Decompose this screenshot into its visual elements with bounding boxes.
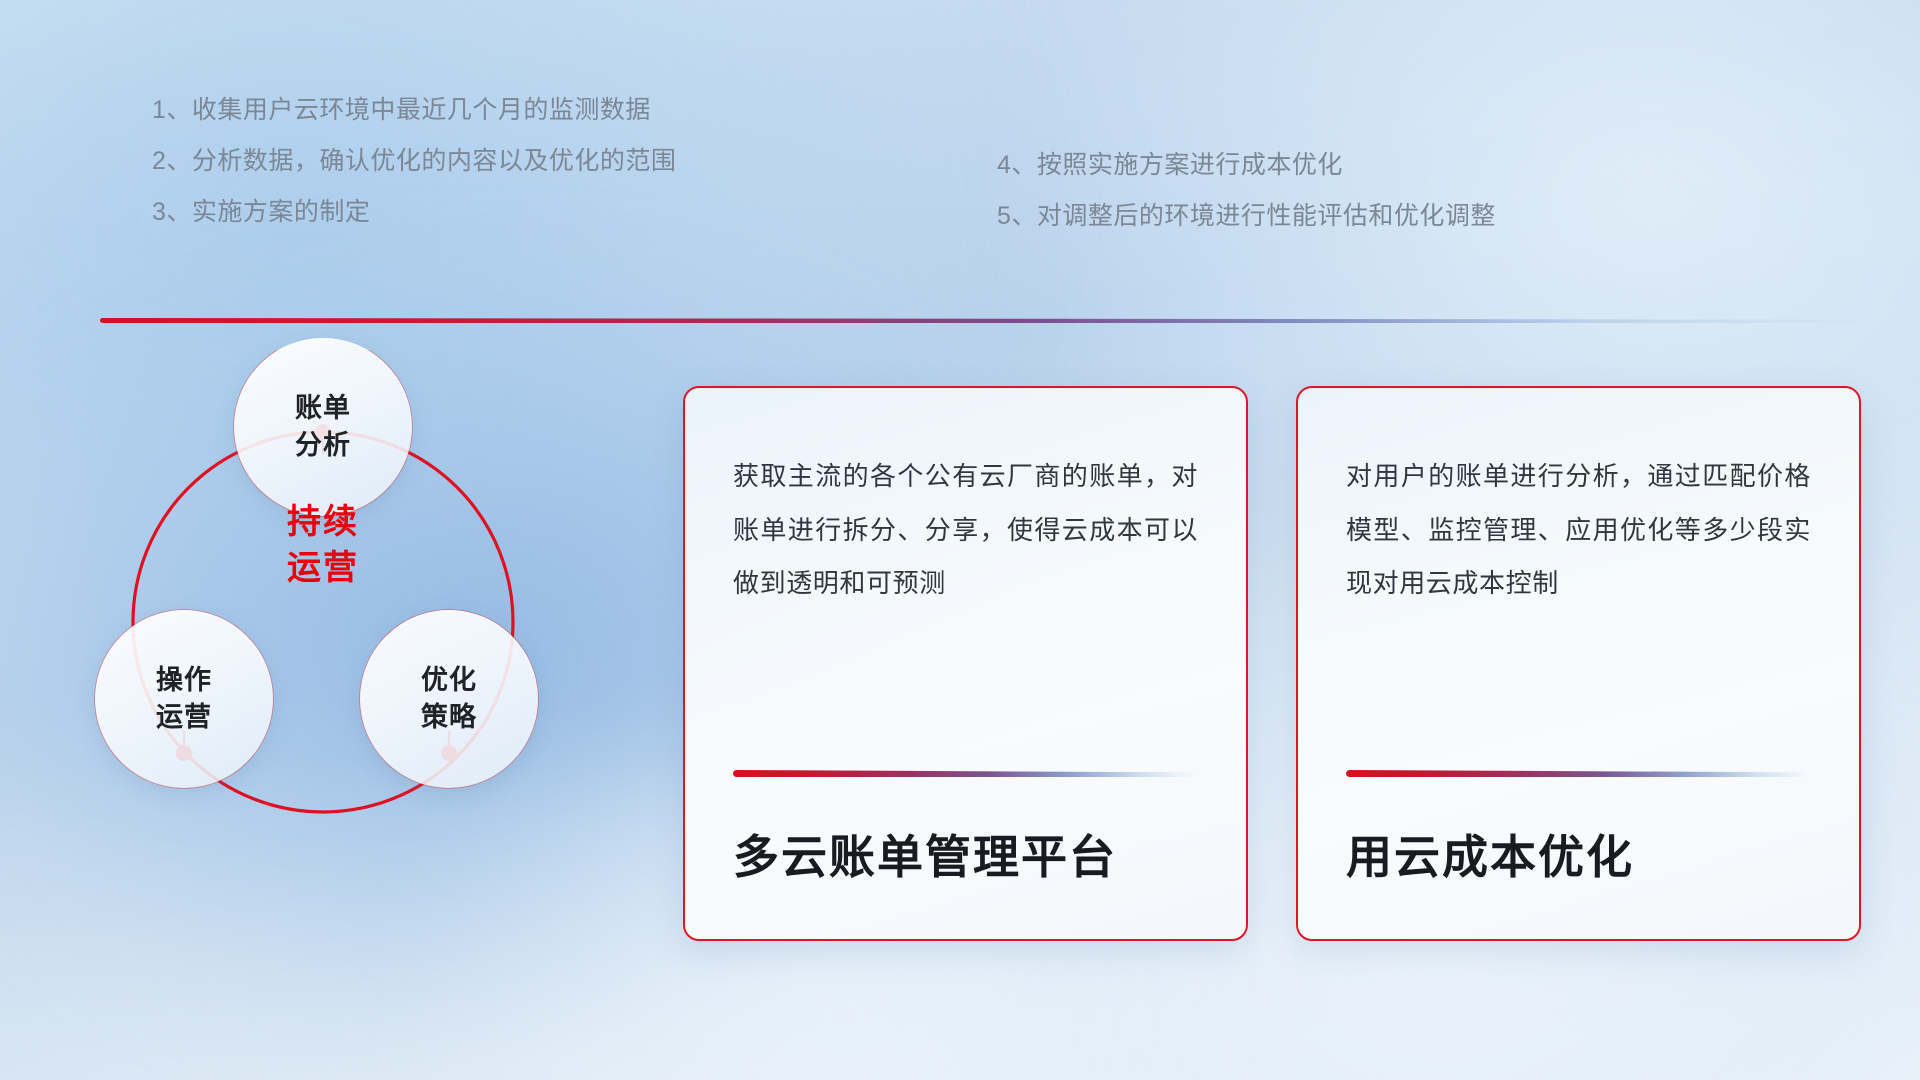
bullet-item: 1、收集用户云环境中最近几个月的监测数据 [152,98,676,123]
bullet-list-right: 4、按照实施方案进行成本优化 5、对调整后的环境进行性能评估和优化调整 [997,153,1496,255]
card-accent-rule [733,770,1198,777]
card-body-text: 对用户的账单进行分析，通过匹配价格模型、监控管理、应用优化等多少段实现对用云成本… [1346,450,1811,611]
venn-center-label: 持续 运营 [238,500,408,592]
bullet-list-left: 1、收集用户云环境中最近几个月的监测数据 2、分析数据，确认优化的内容以及优化的… [152,98,676,251]
venn-bubble-billing-analysis[interactable]: 账单 分析 [234,338,412,516]
venn-bubble-label: 账单 分析 [295,390,351,465]
venn-bubble-operations[interactable]: 操作 运营 [95,610,273,788]
card-cloud-cost-optimization[interactable]: 对用户的账单进行分析，通过匹配价格模型、监控管理、应用优化等多少段实现对用云成本… [1296,386,1861,941]
venn-bubble-label: 优化 策略 [421,662,477,737]
venn-diagram: 账单 分析 操作 运营 优化 策略 持续 运营 [90,350,630,950]
card-title: 多云账单管理平台 [733,821,1198,887]
bullet-item: 2、分析数据，确认优化的内容以及优化的范围 [152,149,676,174]
bullet-item: 4、按照实施方案进行成本优化 [997,153,1496,178]
venn-bubble-label: 操作 运营 [156,662,212,737]
card-multicloud-billing-platform[interactable]: 获取主流的各个公有云厂商的账单，对账单进行拆分、分享，使得云成本可以做到透明和可… [683,386,1248,941]
card-title: 用云成本优化 [1346,821,1811,887]
card-body-text: 获取主流的各个公有云厂商的账单，对账单进行拆分、分享，使得云成本可以做到透明和可… [733,450,1198,611]
venn-bubble-optimization-strategy[interactable]: 优化 策略 [360,610,538,788]
bullet-item: 3、实施方案的制定 [152,200,676,225]
card-accent-rule [1346,770,1811,777]
bullet-item: 5、对调整后的环境进行性能评估和优化调整 [997,204,1496,229]
